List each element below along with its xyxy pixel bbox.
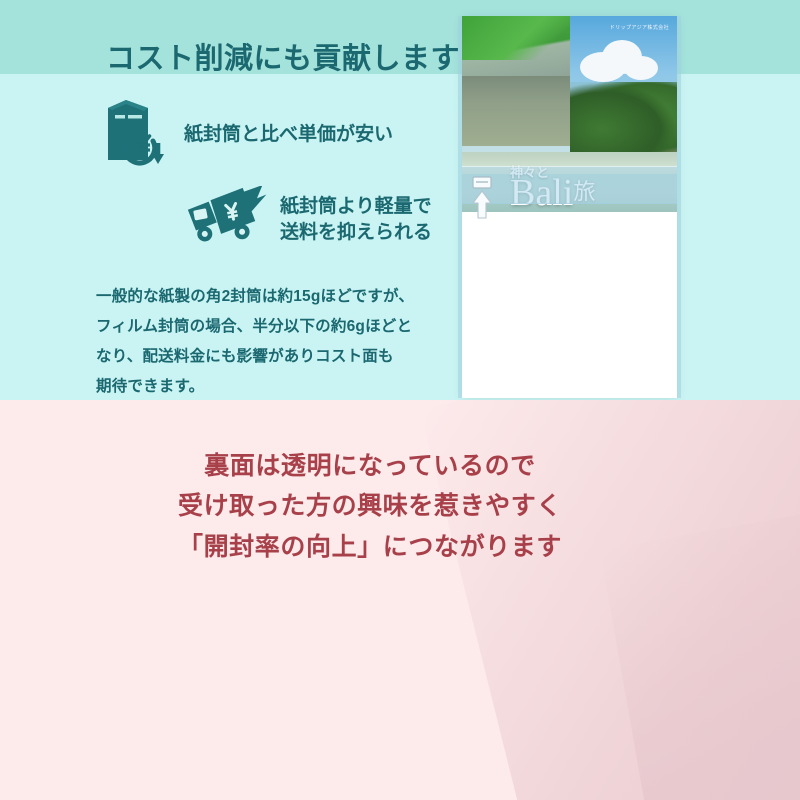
brochure-title-kanji: 旅 <box>573 179 595 204</box>
feature-row-shipping: 紙封筒より軽量で 送料を抑えられる <box>186 186 432 253</box>
brochure-cloud <box>624 56 658 80</box>
envelope-yen-down-icon <box>104 96 168 173</box>
transparency-benefit-section: 裏面は透明になっているので 受け取った方の興味を惹きやすく 「開封率の向上」につ… <box>0 400 800 800</box>
brochure-corporate-name: ドリップアジア株式会社 <box>610 24 669 31</box>
infographic-page: コスト削減にも貢献します 紙封筒と比べ単価が安い <box>0 0 800 800</box>
body-copy: 一般的な紙製の角2封筒は約15gほどですが、 フィルム封筒の場合、半分以下の約6… <box>96 282 448 401</box>
brochure-title-latin: Bali <box>510 172 573 212</box>
section-title: コスト削減にも貢献します <box>106 35 460 77</box>
cost-reduction-section: コスト削減にも貢献します 紙封筒と比べ単価が安い <box>0 0 800 400</box>
brochure-trees <box>570 82 677 160</box>
envelope-body: ドリップアジア株式会社 神々と Bali旅 <box>462 16 677 398</box>
film-edge-left <box>458 16 462 398</box>
delivery-truck-yen-wing-icon <box>186 186 272 253</box>
feature-label-unit-price: 紙封筒と比べ単価が安い <box>184 122 393 148</box>
brochure-mountain <box>462 76 570 146</box>
feature-label-shipping: 紙封筒より軽量で 送料を抑えられる <box>280 194 432 245</box>
film-envelope-mockup: ドリップアジア株式会社 神々と Bali旅 <box>462 16 677 398</box>
film-edge-right <box>677 16 681 398</box>
feature-row-unit-price: 紙封筒と比べ単価が安い <box>104 96 393 173</box>
brochure-title: Bali旅 <box>510 174 595 212</box>
insert-up-arrow-icon <box>468 176 496 220</box>
benefit-heading: 裏面は透明になっているので 受け取った方の興味を惹きやすく 「開封率の向上」につ… <box>0 446 800 568</box>
brochure-photo-left <box>462 16 570 146</box>
